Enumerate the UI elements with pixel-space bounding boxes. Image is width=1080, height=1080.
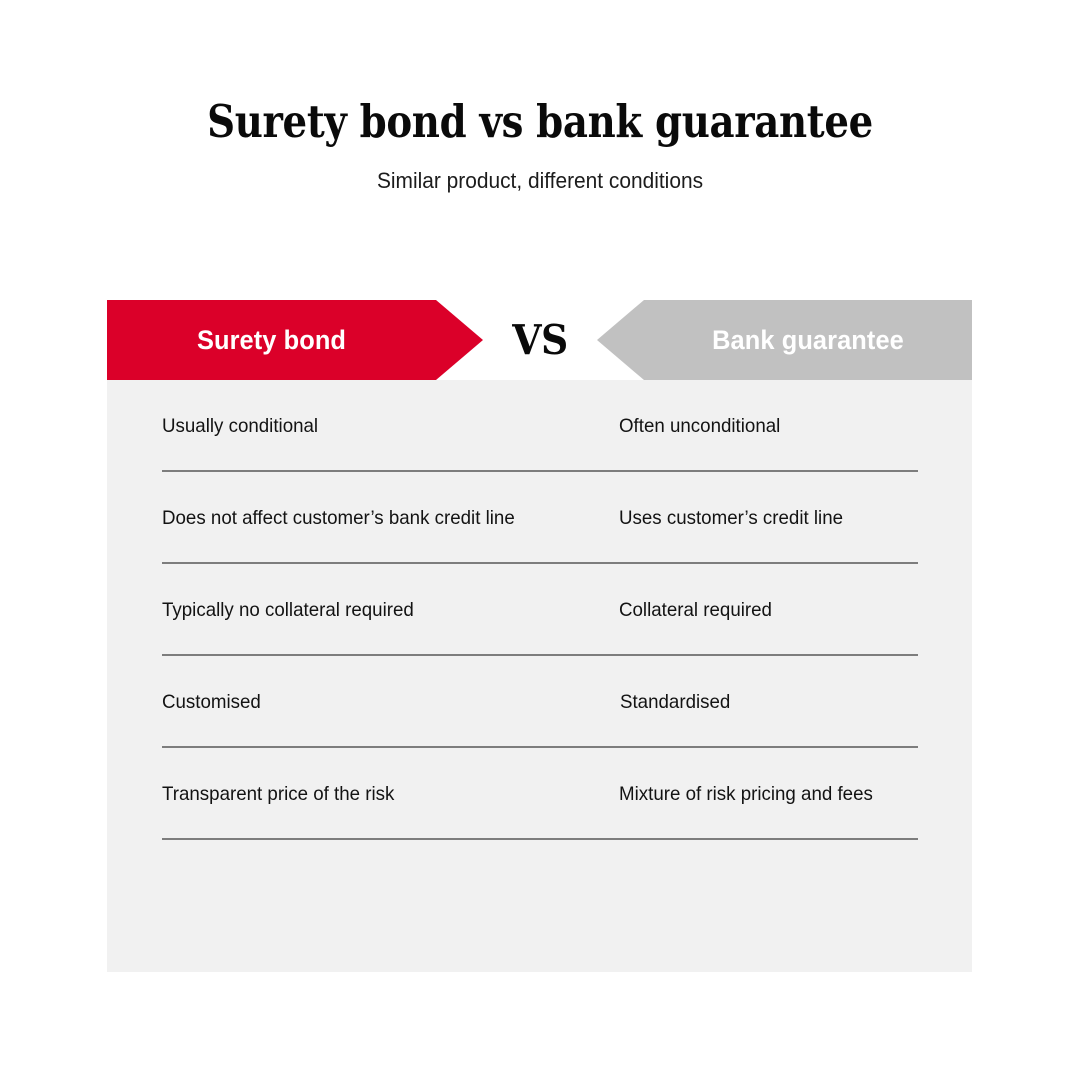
- row-divider: [162, 838, 918, 840]
- surety-bond-cell: Customised: [162, 688, 584, 717]
- bank-guarantee-cell: Standardised: [620, 688, 946, 717]
- comparison-rows: Usually conditional Often unconditional …: [107, 380, 972, 840]
- table-row: Typically no collateral required Collate…: [107, 564, 972, 656]
- vs-label: VS: [488, 300, 593, 380]
- bank-guarantee-cell: Uses customer’s credit line: [619, 504, 945, 533]
- table-row: Transparent price of the risk Mixture of…: [107, 748, 972, 840]
- bank-guarantee-cell: Mixture of risk pricing and fees: [619, 780, 945, 809]
- bank-guarantee-cell: Often unconditional: [619, 412, 945, 441]
- bank-guarantee-cell: Collateral required: [619, 596, 945, 625]
- table-row: Customised Standardised: [107, 656, 972, 748]
- title-block: Surety bond vs bank guarantee Similar pr…: [0, 0, 1080, 195]
- comparison-banner: Surety bond VS Bank guarantee: [107, 300, 972, 380]
- page-subtitle: Similar product, different conditions: [27, 147, 1053, 194]
- surety-bond-cell: Transparent price of the risk: [162, 780, 584, 809]
- page-title: Surety bond vs bank guarantee: [76, 0, 1005, 147]
- bank-guarantee-header-label: Bank guarantee: [654, 300, 962, 380]
- comparison-panel: Surety bond VS Bank guarantee Usually co…: [107, 300, 972, 972]
- surety-bond-header-label: Surety bond: [117, 300, 426, 380]
- table-row: Does not affect customer’s bank credit l…: [107, 472, 972, 564]
- surety-bond-cell: Usually conditional: [162, 412, 584, 441]
- surety-bond-cell: Does not affect customer’s bank credit l…: [162, 504, 584, 533]
- surety-bond-cell: Typically no collateral required: [162, 596, 584, 625]
- table-row: Usually conditional Often unconditional: [107, 380, 972, 472]
